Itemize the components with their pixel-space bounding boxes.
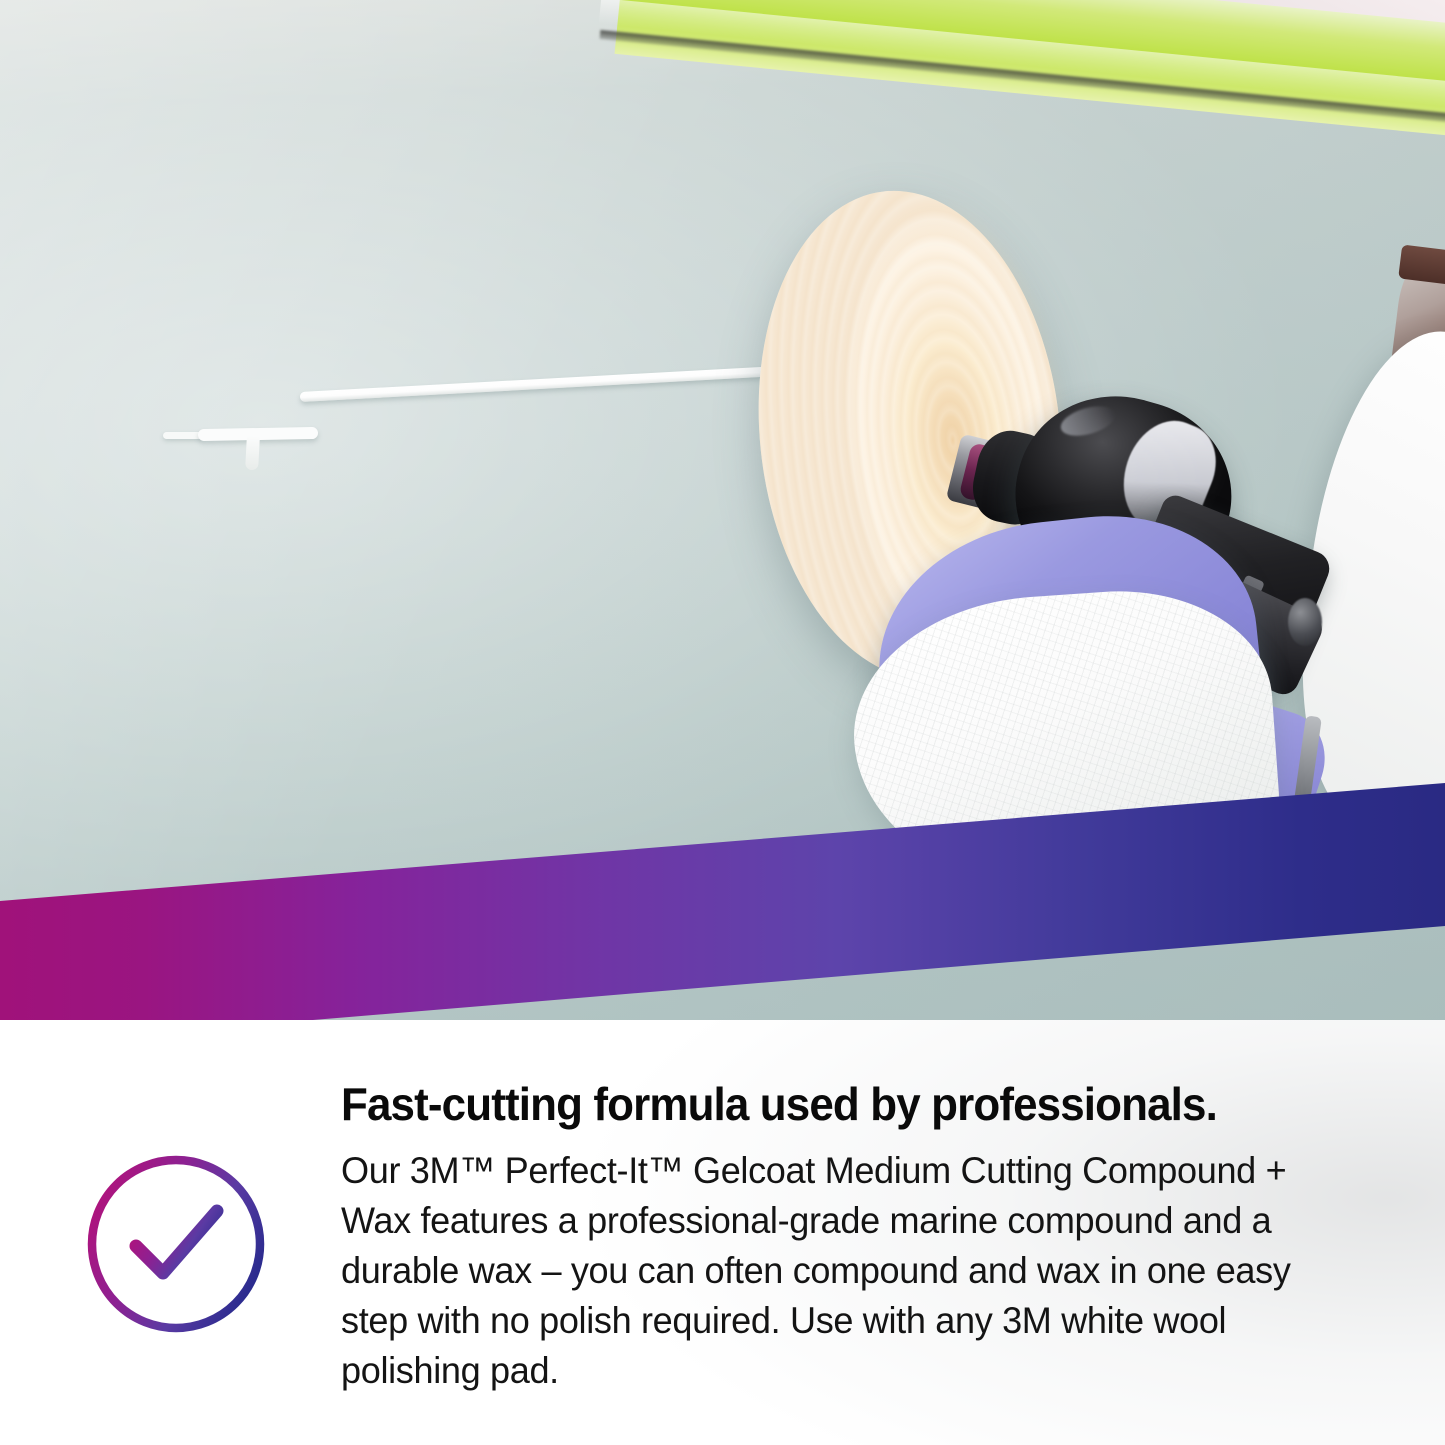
background-fastener: [1288, 598, 1322, 646]
callout-body-text: Our 3M™ Perfect-It™ Gelcoat Medium Cutti…: [341, 1146, 1326, 1396]
check-circle-icon: [86, 1154, 266, 1334]
check-mark: [136, 1211, 217, 1273]
check-circle-svg: [86, 1154, 266, 1334]
check-circle-ring: [92, 1160, 260, 1328]
page-title: Fast-cutting formula used by professiona…: [341, 1076, 1353, 1132]
compound-bead-dot: [163, 432, 203, 439]
callout-content: Fast-cutting formula used by professiona…: [0, 1060, 1445, 1445]
product-feature-card: Fast-cutting formula used by professiona…: [0, 0, 1445, 1445]
compound-bead-drip: [245, 436, 260, 471]
hero-photo: [0, 0, 1445, 1050]
